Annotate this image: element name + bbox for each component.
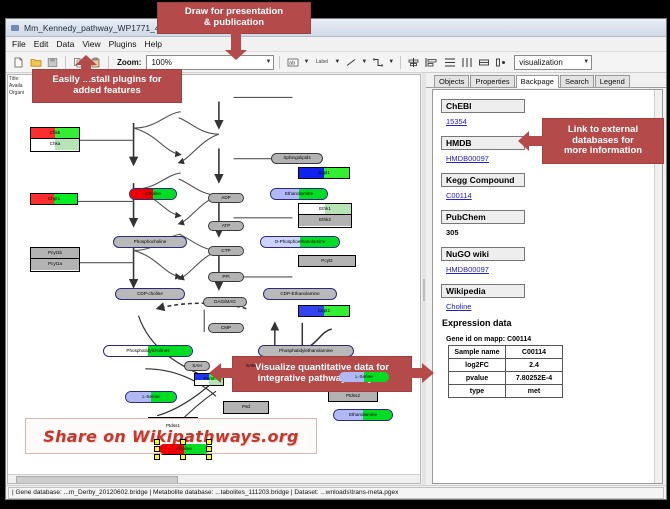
zoom-value: 100%	[151, 58, 171, 67]
gene-group-chk[interactable]: Chkb Chka	[30, 127, 80, 152]
gene-sgpl1[interactable]: Sgpl1	[298, 167, 350, 179]
gene-group-pcyt1[interactable]: Pcyt1b Pcyt1a	[30, 247, 80, 272]
callout-links-stem	[518, 131, 545, 151]
db-header-nugo-wiki: NuGO wiki	[441, 247, 525, 261]
align-center-icon[interactable]	[406, 55, 421, 70]
db-header-kegg-compound: Kegg Compound	[441, 173, 525, 187]
menu-item-view[interactable]: View	[82, 39, 100, 49]
expr-key-sample-name: Sample name	[449, 346, 506, 359]
panel-splitter[interactable]	[422, 73, 426, 485]
gene-group-ethk[interactable]: Ethk1 Ethk2	[298, 203, 352, 228]
node-sphingolipids[interactable]: Sphingolipids	[271, 153, 323, 164]
node-l-serine-right[interactable]: L-Serine	[338, 371, 390, 383]
node-adp[interactable]: ADP	[208, 193, 244, 203]
chevron-down-icon-textbox[interactable]: ▼	[303, 59, 309, 65]
canvas-hscrollbar[interactable]	[8, 474, 420, 483]
toolbar-separator	[65, 56, 66, 69]
node-atp[interactable]: ATP	[208, 221, 244, 231]
visualization-combo[interactable]: visualization ▼	[514, 55, 592, 70]
gene-cept1[interactable]: Cept1	[298, 305, 350, 317]
node-phosphocholine[interactable]: Phosphocholine	[113, 236, 187, 248]
menu-bar: File Edit Data View Plugins Help	[6, 37, 666, 52]
app-icon	[10, 23, 20, 33]
menu-item-file[interactable]: File	[12, 39, 26, 49]
visualization-value: visualization	[519, 58, 563, 67]
distribute-horizontal-icon[interactable]	[459, 55, 474, 70]
db-header-wikipedia: Wikipedia	[441, 284, 525, 298]
db-link-wikipedia[interactable]: Choline	[446, 302, 662, 311]
toolbar-separator-2	[108, 56, 109, 69]
gene-pcyt1b[interactable]: Pcyt1b	[31, 248, 79, 259]
chevron-down-icon-label[interactable]: ▼	[334, 59, 340, 65]
expr-key-pvalue: pvalue	[449, 372, 506, 385]
toolbar-separator-3	[279, 56, 280, 69]
node-cdp-choline[interactable]: CDP-choline	[115, 288, 185, 300]
side-panel-tabs: Objects Properties Backpage Search Legen…	[426, 73, 666, 88]
table-row: type met	[449, 385, 563, 398]
node-phosphatidylcholines[interactable]: Phosphatidylcholines	[103, 345, 193, 357]
node-choline-top[interactable]: Choline	[129, 188, 177, 200]
align-left-icon[interactable]	[423, 55, 440, 70]
node-dagmag[interactable]: DAG/MAG	[203, 297, 247, 307]
visualization-icon[interactable]	[493, 55, 508, 70]
menu-item-help[interactable]: Help	[145, 39, 162, 49]
zoom-label: Zoom:	[117, 58, 141, 67]
menu-item-data[interactable]: Data	[56, 39, 74, 49]
chevron-down-icon: ▼	[265, 59, 271, 65]
canvas-hscrollbar-thumb[interactable]	[16, 476, 178, 484]
svg-text:ab: ab	[289, 60, 295, 66]
db-link-nugo-wiki[interactable]: HMDB00097	[446, 265, 662, 274]
node-ctp[interactable]: CTP	[208, 246, 244, 256]
callout-links-line3: more information	[564, 146, 642, 157]
tab-backpage[interactable]: Backpage	[516, 75, 559, 88]
node-o-phosphoethanolamine[interactable]: O-Phosphoethanolamine	[260, 236, 340, 248]
toolbar-separator-4	[400, 56, 401, 69]
expression-table: Sample name C00114 log2FC 2.4 pvalue 7.8…	[448, 345, 563, 398]
menu-item-plugins[interactable]: Plugins	[109, 39, 137, 49]
callout-visualize-stem-right	[408, 363, 434, 383]
gene-psd[interactable]: Psd	[223, 401, 269, 414]
db-header-pubchem: PubChem	[441, 210, 525, 224]
selection-handle-w[interactable]	[154, 446, 160, 452]
expr-key-log2fc: log2FC	[449, 359, 506, 372]
gene-id-on-mapp: Gene id on mapp: C00114	[446, 336, 662, 343]
line-icon[interactable]	[343, 55, 358, 70]
save-icon[interactable]	[45, 55, 60, 70]
new-file-icon[interactable]	[11, 55, 26, 70]
selection-handle-s[interactable]	[180, 454, 186, 460]
node-cmp[interactable]: CMP	[208, 323, 244, 333]
gene-pcyt1a[interactable]: Pcyt1a	[31, 259, 79, 270]
gene-ethk1[interactable]: Ethk1	[299, 204, 351, 215]
node-sah[interactable]: SAH	[184, 361, 210, 371]
selection-handle-se[interactable]	[206, 454, 212, 460]
screenshot-root: Mm_Kennedy_pathway_WP1771_45176.gpml Fil…	[0, 0, 670, 509]
group-icon[interactable]	[476, 55, 491, 70]
status-bar: | Gene database: ...m_Derby_20120602.bri…	[6, 485, 666, 499]
open-folder-icon[interactable]	[28, 55, 43, 70]
selection-handle-ne[interactable]	[206, 439, 212, 445]
db-header-chebi: ChEBI	[441, 99, 525, 113]
callout-plugins-line2: added features	[73, 86, 141, 97]
tab-search[interactable]: Search	[560, 75, 594, 87]
db-value-pubchem: 305	[446, 228, 662, 237]
chevron-down-icon-visualization: ▼	[583, 59, 589, 65]
callout-draw-line2: & publication	[204, 18, 264, 29]
distribute-vertical-icon[interactable]	[442, 55, 457, 70]
node-ethanolamine-right[interactable]: Ethanolamine	[333, 409, 393, 421]
chevron-down-icon-connector[interactable]: ▼	[388, 59, 394, 65]
table-row: pvalue 7.80252E-4	[449, 372, 563, 385]
title-bar: Mm_Kennedy_pathway_WP1771_45176.gpml	[6, 19, 666, 37]
node-cdp-ethanolamine[interactable]: CDP-Ethanolamine	[263, 288, 337, 300]
tab-legend[interactable]: Legend	[595, 75, 630, 87]
callout-links-line1: Link to external	[568, 125, 638, 136]
callout-links: Link to external databases for more info…	[542, 118, 664, 164]
tab-objects[interactable]: Objects	[434, 75, 469, 87]
expr-val-log2fc: 2.4	[506, 359, 563, 372]
chevron-down-icon-line[interactable]: ▼	[361, 59, 367, 65]
node-ethanolamine-top[interactable]: Ethanolamine	[270, 188, 328, 200]
node-l-serine-left[interactable]: L-Serine	[125, 391, 177, 403]
label-icon[interactable]: Label	[312, 55, 331, 70]
selection-handle-nw[interactable]	[154, 439, 160, 445]
selection-handle-e[interactable]	[206, 446, 212, 452]
menu-item-edit[interactable]: Edit	[34, 39, 49, 49]
expr-val-type: met	[506, 385, 563, 398]
text-box-icon[interactable]: ab	[285, 55, 300, 70]
selection-handle-n[interactable]	[180, 439, 186, 445]
node-ppi[interactable]: PPi	[208, 272, 244, 282]
gene-pcyt2[interactable]: Pcyt2	[298, 255, 356, 267]
db-header-hmdb: HMDB	[441, 136, 525, 150]
zoom-combo[interactable]: 100% ▼	[146, 55, 274, 70]
table-row: log2FC 2.4	[449, 359, 563, 372]
connector-icon[interactable]	[370, 55, 385, 70]
callout-plugins-stem	[75, 55, 97, 81]
table-row: Sample name C00114	[449, 346, 563, 359]
tab-properties[interactable]: Properties	[470, 75, 514, 87]
gene-chka[interactable]: Chka	[31, 139, 79, 150]
callout-draw: Draw for presentation & publication	[157, 2, 311, 34]
gene-chpt1[interactable]: Chpt1	[30, 193, 78, 205]
callout-plugins: Easily install plugins for added feature…	[32, 69, 182, 103]
gene-ethk2[interactable]: Ethk2	[299, 215, 351, 226]
status-text: | Gene database: ...m_Derby_20120602.bri…	[8, 487, 664, 499]
gene-chkb[interactable]: Chkb	[31, 128, 79, 139]
db-link-kegg-compound[interactable]: C00114	[446, 191, 662, 200]
expression-data-heading: Expression data	[442, 318, 662, 328]
expr-val-pvalue: 7.80252E-4	[506, 372, 563, 385]
expr-val-sample-name: C00114	[506, 346, 563, 359]
expr-key-type: type	[449, 385, 506, 398]
callout-share-text: Share on Wikipathways.org	[43, 427, 298, 446]
selection-handle-sw[interactable]	[154, 454, 160, 460]
